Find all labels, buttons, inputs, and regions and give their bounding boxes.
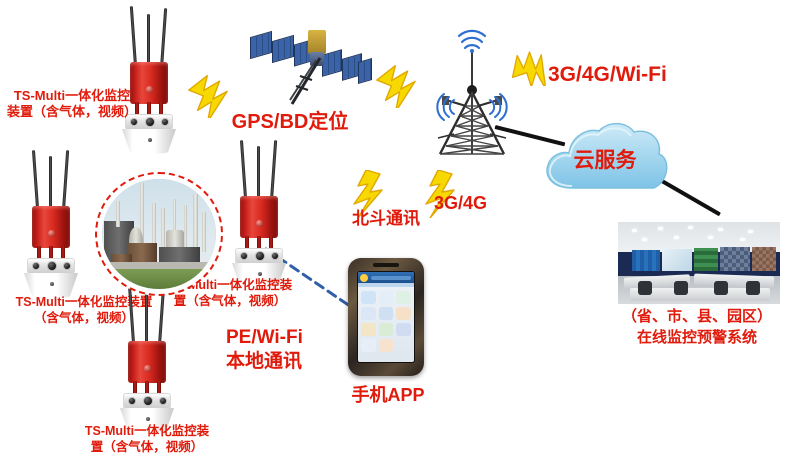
antenna-icon — [145, 291, 148, 345]
antenna-icon — [240, 140, 247, 198]
camera-lens-icon — [255, 251, 265, 261]
satellite-icon[interactable] — [246, 12, 372, 108]
app-icon[interactable] — [379, 291, 394, 304]
plant-photo — [102, 179, 216, 289]
camera-lens-icon — [63, 262, 71, 270]
camera-lens-icon — [161, 118, 169, 126]
lightning-bolt-icon — [376, 64, 434, 108]
operator-chair — [714, 281, 728, 295]
sensor-device-4[interactable] — [110, 285, 182, 433]
3g4g-wifi-label: 3G/4G/Wi-Fi — [548, 62, 708, 88]
antenna-icon — [257, 146, 260, 200]
gps-bd-label: GPS/BD定位 — [220, 110, 360, 135]
mobile-app-label: 手机APP — [340, 384, 436, 407]
video-wall-panel — [694, 248, 718, 271]
sensor-body — [128, 341, 166, 383]
antenna-icon — [160, 8, 167, 68]
video-wall-panel — [752, 247, 776, 271]
operator-chair — [746, 281, 760, 295]
antenna-icon — [49, 156, 52, 210]
app-icon[interactable] — [379, 339, 394, 352]
diagram-canvas: TS-Multi一体化监控 装置（含气体，视频） TS-Multi一体化监控装置… — [0, 0, 797, 464]
app-icon[interactable] — [396, 307, 411, 320]
camera-lens-icon — [32, 262, 40, 270]
cloud-service-icon[interactable]: 云服务 — [538, 118, 672, 194]
antenna-icon — [270, 140, 277, 200]
tablet-app-grid[interactable] — [358, 287, 414, 356]
app-icon[interactable] — [379, 323, 394, 336]
operator-chair — [638, 281, 652, 295]
pe-wifi-label: PE/Wi-Fi 本地通讯 — [226, 326, 346, 374]
cell-tower-icon[interactable] — [424, 26, 520, 166]
plant-photo-circle — [95, 172, 223, 296]
sensor-indicator-icon — [50, 282, 54, 286]
video-wall-panel — [662, 249, 692, 271]
video-wall-panel — [720, 247, 750, 271]
camera-lens-icon — [143, 396, 153, 406]
camera-lens-icon — [145, 117, 155, 127]
app-icon[interactable] — [361, 339, 376, 352]
sensor-body — [240, 196, 278, 238]
sensor-indicator-icon — [148, 138, 152, 142]
sensor-device-4-label: TS-Multi一体化监控装 置（含气体，视频） — [72, 424, 222, 455]
antenna-icon — [147, 14, 150, 68]
sensor-indicator-icon — [258, 272, 262, 276]
sensor-device-2[interactable] — [14, 150, 86, 298]
3g4g-label: 3G/4G — [434, 192, 504, 215]
camera-lens-icon — [240, 252, 248, 260]
sensor-device-3[interactable] — [222, 140, 294, 288]
tablet-screen[interactable] — [357, 271, 415, 363]
camera-lens-icon — [47, 261, 57, 271]
sensor-device-1-label: TS-Multi一体化监控 装置（含气体，视频） — [2, 88, 142, 121]
satellite-solar-panel — [358, 58, 372, 84]
operator-chair — [674, 281, 688, 295]
app-icon[interactable] — [396, 323, 411, 336]
control-room-photo — [618, 222, 780, 304]
antenna-icon — [130, 6, 137, 66]
sensor-device-1[interactable] — [112, 6, 184, 154]
control-room-label: （省、市、县、园区） 在线监控预警系统 — [598, 306, 796, 348]
app-icon[interactable] — [361, 307, 376, 320]
camera-lens-icon — [271, 252, 279, 260]
sensor-body — [32, 206, 70, 248]
antenna-icon — [62, 150, 69, 210]
camera-lens-icon — [128, 397, 136, 405]
app-icon[interactable] — [361, 323, 376, 336]
app-icon[interactable] — [379, 307, 394, 320]
app-icon — [396, 339, 411, 352]
cloud-service-label: 云服务 — [538, 144, 672, 174]
mobile-app-tablet[interactable] — [348, 258, 424, 376]
satellite-solar-panel — [250, 31, 272, 59]
tablet-speaker-icon — [373, 263, 399, 267]
app-icon[interactable] — [361, 291, 376, 304]
sensor-indicator-icon — [146, 417, 150, 421]
video-wall-panel — [632, 250, 660, 271]
satellite-body — [308, 30, 326, 54]
tablet-statusbar — [358, 272, 414, 283]
antenna-icon — [128, 285, 135, 343]
antenna-icon — [32, 150, 39, 208]
camera-lens-icon — [159, 397, 167, 405]
app-icon[interactable] — [396, 291, 411, 304]
beidou-label: 北斗通讯 — [340, 208, 432, 229]
